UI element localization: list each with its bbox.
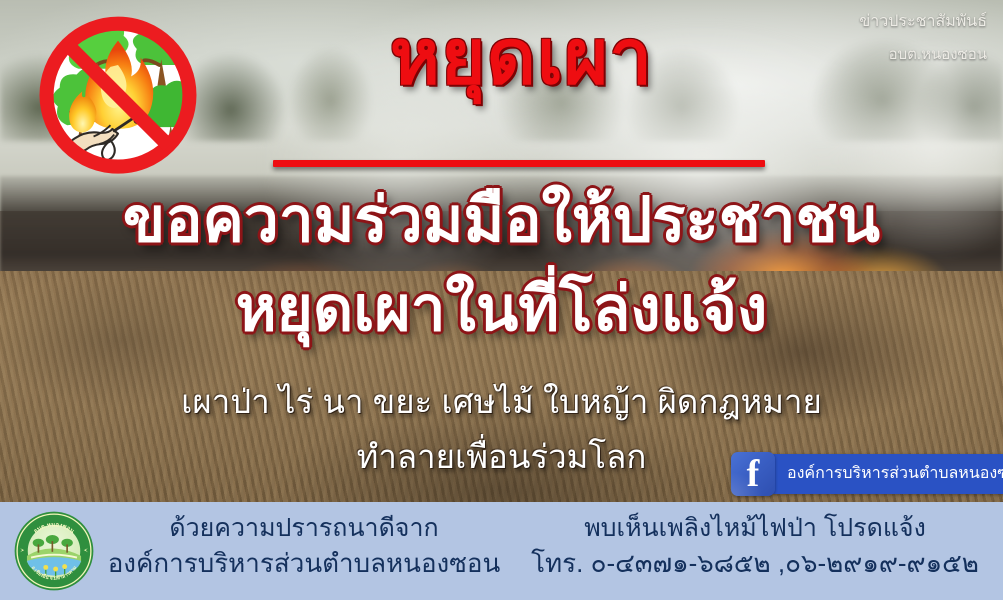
facebook-badge[interactable]: f องค์การบริหารส่วนตำบลหนองซอน bbox=[731, 452, 1003, 496]
facebook-icon[interactable]: f bbox=[731, 452, 775, 496]
footer-right-block: พบเห็นเพลิงไหม้ไฟป่า โปรดแจ้ง โทร. ๐-๔๓๗… bbox=[520, 512, 990, 581]
page-title: หยุดเผา bbox=[0, 18, 1003, 98]
main-message-line-2: หยุดเผาในที่โล่งแจ้ง bbox=[0, 277, 1003, 342]
footer-left-line-1: ด้วยความปรารถนาดีจาก bbox=[104, 512, 504, 546]
footer-right-line-1: พบเห็นเพลิงไหม้ไฟป่า โปรดแจ้ง bbox=[520, 512, 990, 546]
footer-left-block: ด้วยความปรารถนาดีจาก องค์การบริหารส่วนตำ… bbox=[104, 512, 504, 581]
sub-message-line-1: เผาป่า ไร่ นา ขยะ เศษไม้ ใบหญ้า ผิดกฎหมา… bbox=[0, 384, 1003, 420]
facebook-page-name[interactable]: องค์การบริหารส่วนตำบลหนองซอน bbox=[771, 454, 1003, 494]
red-divider-rule bbox=[273, 160, 765, 167]
poster-image: ข่าวประชาสัมพันธ์ อบต.หนองซอน หยุดเผา ขอ… bbox=[0, 0, 1003, 600]
main-message-line-1: ขอความร่วมมือให้ประชาชน bbox=[0, 188, 1003, 253]
footer-left-line-2: องค์การบริหารส่วนตำบลหนองซอน bbox=[104, 546, 504, 581]
facebook-icon-letter: f bbox=[731, 455, 775, 493]
municipality-logo: อบต.หนองซอน อ.เชียงยืน จ.มหาสารคาม bbox=[13, 510, 95, 592]
footer-bar: อบต.หนองซอน อ.เชียงยืน จ.มหาสารคาม ด้วยค… bbox=[0, 502, 1003, 600]
footer-phone-numbers: โทร. ๐-๔๓๗๑-๖๘๕๒ ,๐๖-๒๙๑๙-๙๑๕๒ bbox=[520, 546, 990, 581]
